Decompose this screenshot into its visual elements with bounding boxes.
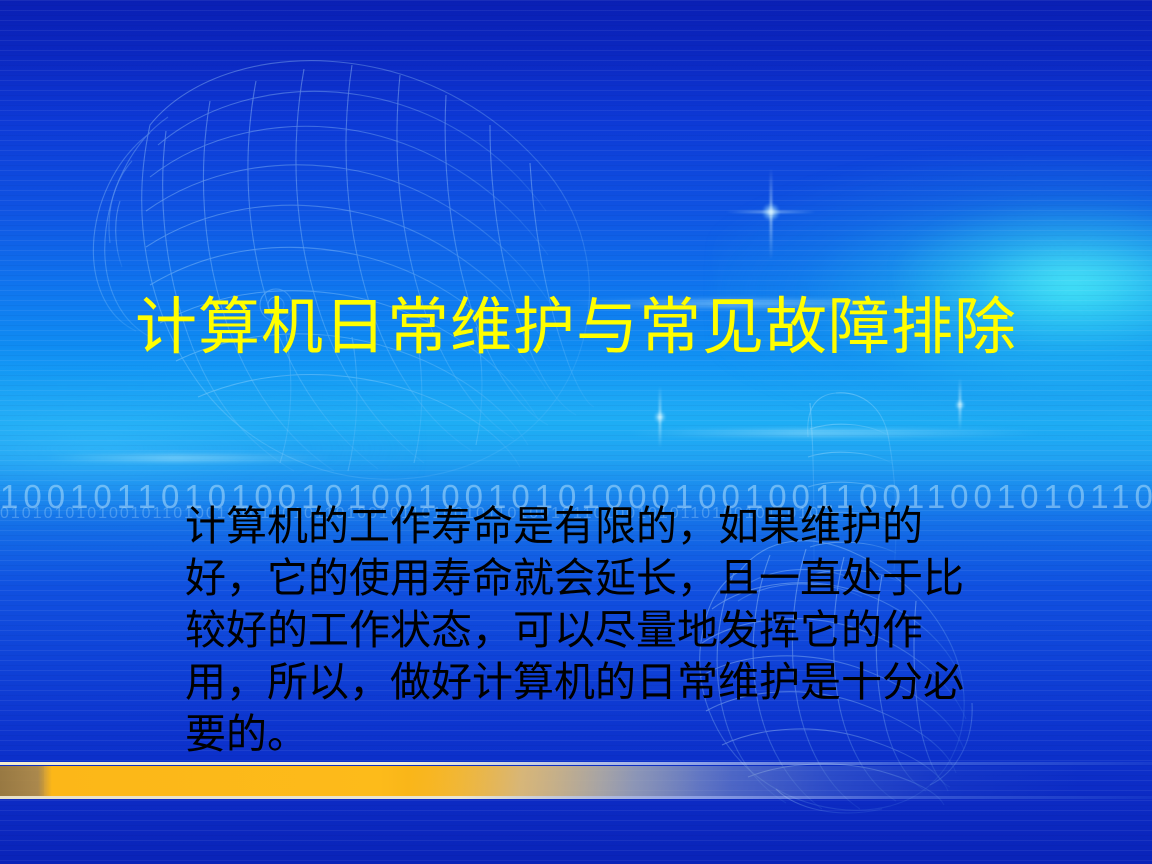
presentation-slide: 1001011010100101001001010100010010011001… <box>0 0 1152 864</box>
accent-bar-left-shade <box>0 766 44 796</box>
accent-bar-top-edge <box>0 762 1152 765</box>
slide-title: 计算机日常维护与常见故障排除 <box>0 296 1152 361</box>
bottom-accent-bar <box>0 762 1152 804</box>
accent-bar-bottom-edge <box>0 796 1152 799</box>
slide-body-text: 计算机的工作寿命是有限的，如果维护的好，它的使用寿命就会延长，且一直处于比较好的… <box>185 500 975 760</box>
light-streak-decor-2 <box>620 430 1050 436</box>
accent-bar-diagonal-fade <box>410 766 730 796</box>
background-glow-left <box>0 380 415 518</box>
light-streak-decor-3 <box>40 455 340 461</box>
